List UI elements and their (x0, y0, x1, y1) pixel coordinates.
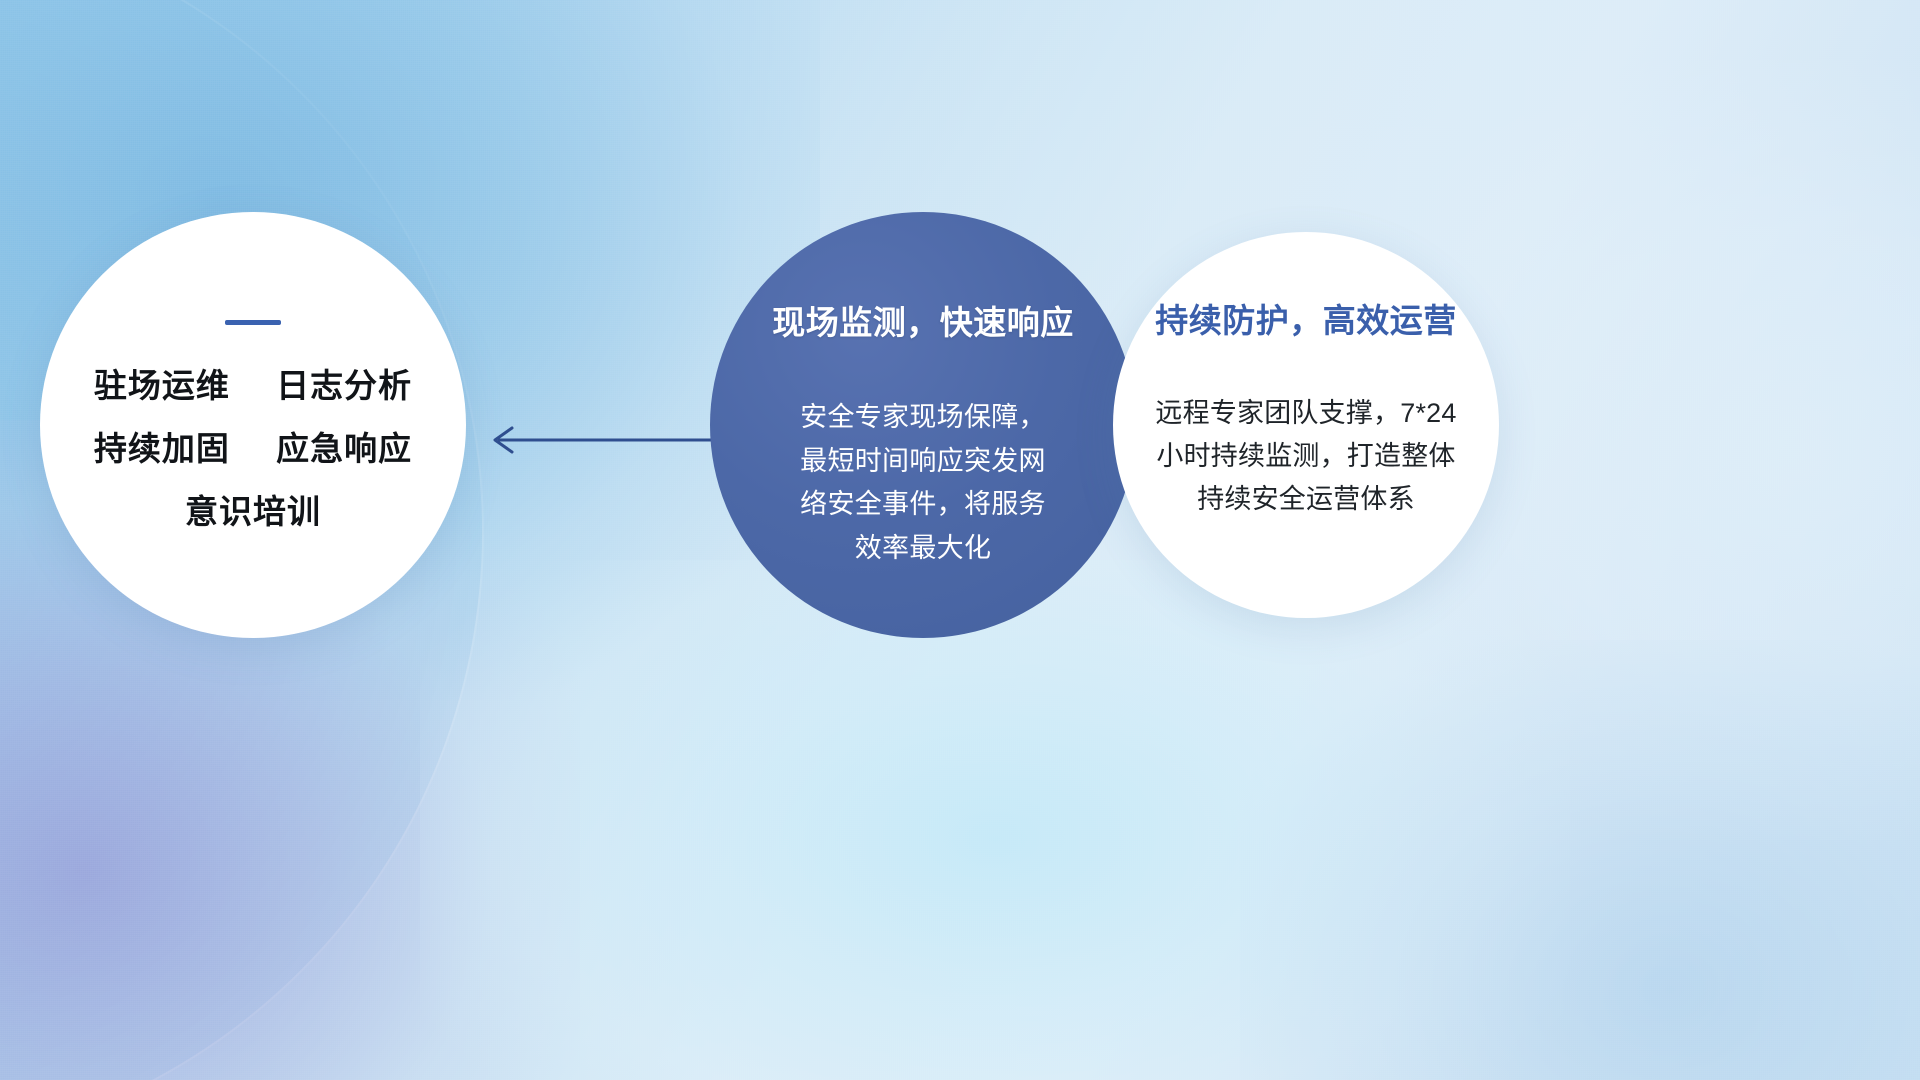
left-capability-circle: 驻场运维 日志分析 持续加固 应急响应 意识培训 (40, 212, 466, 638)
capability-label: 应急响应 (276, 430, 412, 467)
right-circle-body: 远程专家团队支撑，7*24 小时持续监测，打造整体 持续安全运营体系 (1130, 392, 1482, 522)
middle-circle-title: 现场监测，快速响应 (772, 296, 1074, 344)
capability-row: 意识培训 (185, 495, 321, 528)
capability-label: 驻场运维 (94, 367, 230, 404)
divider-rule-icon (225, 320, 281, 325)
right-circle-title: 持续防护，高效运营 (1155, 294, 1457, 342)
body-line: 最短时间响应突发网 (773, 440, 1073, 484)
body-line: 络安全事件，将服务 (773, 483, 1073, 527)
right-continuous-protection-circle: 持续防护，高效运营 远程专家团队支撑，7*24 小时持续监测，打造整体 持续安全… (1113, 232, 1499, 618)
capability-row: 持续加固 应急响应 (94, 432, 412, 465)
arrow-left-icon (480, 418, 720, 462)
body-line: 远程专家团队支撑，7*24 (1130, 392, 1482, 435)
middle-circle-body: 安全专家现场保障， 最短时间响应突发网 络安全事件，将服务 效率最大化 (773, 396, 1073, 571)
capability-label: 持续加固 (94, 430, 230, 467)
body-line: 安全专家现场保障， (773, 396, 1073, 440)
capability-label: 日志分析 (276, 367, 412, 404)
middle-onsite-monitoring-circle: 现场监测，快速响应 安全专家现场保障， 最短时间响应突发网 络安全事件，将服务 … (710, 212, 1136, 638)
capability-label: 意识培训 (185, 493, 321, 530)
body-line: 持续安全运营体系 (1130, 478, 1482, 521)
body-line: 效率最大化 (773, 527, 1073, 571)
capability-row: 驻场运维 日志分析 (94, 369, 412, 402)
body-line: 小时持续监测，打造整体 (1130, 435, 1482, 478)
